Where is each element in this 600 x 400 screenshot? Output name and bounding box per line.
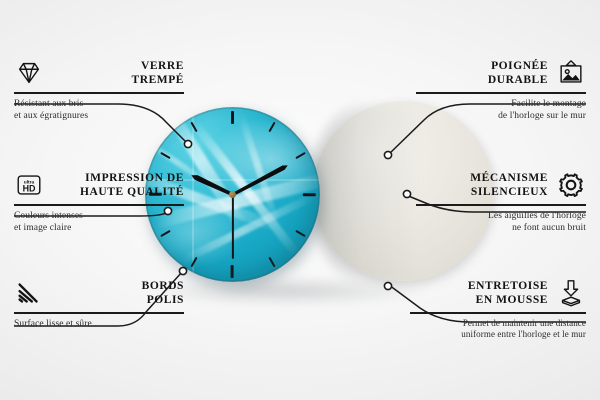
feature-mecanisme-silencieux[interactable]: MÉCANISME SILENCIEUX Les aiguilles de l'… bbox=[416, 170, 586, 234]
feature-title: POIGNÉE DURABLE bbox=[488, 59, 548, 87]
feature-bords-polis[interactable]: BORDS POLIS Surface lisse et sûre bbox=[14, 278, 184, 330]
feature-title: BORDS POLIS bbox=[52, 279, 184, 307]
feature-rule bbox=[14, 92, 184, 94]
feature-header: ENTRETOISE EN MOUSSE bbox=[410, 278, 586, 308]
feature-verre-trempe[interactable]: VERRE TREMPÉ Résistant aux bris et aux é… bbox=[14, 58, 184, 122]
polished-edges-icon bbox=[14, 278, 44, 308]
feature-rule bbox=[416, 92, 586, 94]
feature-entretoise-en-mousse[interactable]: ENTRETOISE EN MOUSSE Permet de maintenir… bbox=[410, 278, 586, 341]
feature-description: Les aiguilles de l'horloge ne font aucun… bbox=[416, 210, 586, 235]
feature-title: ENTRETOISE EN MOUSSE bbox=[468, 279, 548, 307]
picture-hanger-icon bbox=[556, 58, 586, 88]
feature-rule bbox=[14, 312, 184, 314]
feature-header: MÉCANISME SILENCIEUX bbox=[416, 170, 586, 200]
feature-title: VERRE TREMPÉ bbox=[52, 59, 184, 87]
feature-description: Facilite le montage de l'horloge sur le … bbox=[416, 98, 586, 123]
feature-description: Résistant aux bris et aux égratignures bbox=[14, 98, 184, 123]
diamond-icon bbox=[14, 58, 44, 88]
feature-header: BORDS POLIS bbox=[14, 278, 184, 308]
feature-impression-haute-qualite[interactable]: ultra HD IMPRESSION DE HAUTE QUALITÉ Cou… bbox=[14, 170, 184, 234]
feature-title: IMPRESSION DE HAUTE QUALITÉ bbox=[52, 171, 184, 199]
feature-description: Surface lisse et sûre bbox=[14, 318, 184, 330]
foam-spacer-icon bbox=[556, 278, 586, 308]
feature-title: MÉCANISME SILENCIEUX bbox=[470, 171, 548, 199]
ultra-hd-icon-big-label: HD bbox=[23, 184, 36, 194]
feature-description: Permet de maintenir une distance uniform… bbox=[410, 318, 586, 341]
ultra-hd-icon: ultra HD bbox=[14, 170, 44, 200]
feature-header: VERRE TREMPÉ bbox=[14, 58, 184, 88]
feature-rule bbox=[14, 204, 184, 206]
feature-description: Couleurs intenses et image claire bbox=[14, 210, 184, 235]
feature-poignee-durable[interactable]: POIGNÉE DURABLE Facilite le montage de l… bbox=[416, 58, 586, 122]
feature-header: POIGNÉE DURABLE bbox=[416, 58, 586, 88]
feature-rule bbox=[416, 204, 586, 206]
feature-rule bbox=[410, 312, 586, 314]
gear-icon bbox=[556, 170, 586, 200]
feature-header: ultra HD IMPRESSION DE HAUTE QUALITÉ bbox=[14, 170, 184, 200]
